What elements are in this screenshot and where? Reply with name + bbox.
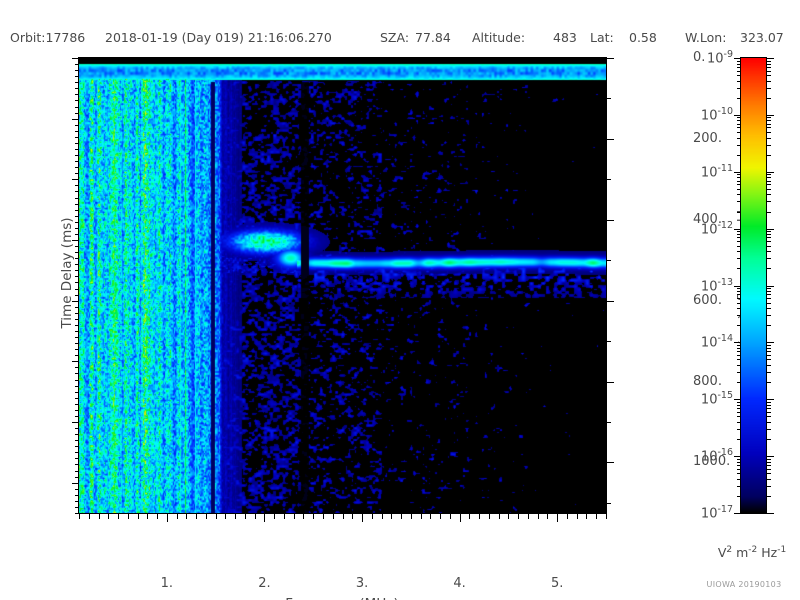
colorbar-tick-label: 10-11 bbox=[701, 163, 733, 180]
right-tick-minor bbox=[607, 179, 611, 180]
colorbar-tick-minor bbox=[767, 88, 771, 89]
x-tick-minor bbox=[421, 514, 422, 519]
x-tick-minor bbox=[196, 514, 197, 519]
header-altitude-value: 483 bbox=[553, 30, 577, 45]
right-tick-label: 0. bbox=[693, 50, 705, 65]
colorbar-tick-label: 10-15 bbox=[701, 390, 733, 407]
colorbar-tick-minor bbox=[767, 231, 771, 232]
colorbar-tick-minor bbox=[767, 439, 771, 440]
x-tick-minor bbox=[538, 514, 539, 519]
x-tick-minor bbox=[333, 514, 334, 519]
colorbar-tick-major bbox=[767, 172, 774, 173]
colorbar-tick-minor bbox=[767, 486, 771, 487]
ionogram-plot-area[interactable] bbox=[78, 57, 607, 514]
colorbar-tick-minor bbox=[767, 308, 771, 309]
x-tick-minor bbox=[294, 514, 295, 519]
colorbar-tick-minor bbox=[767, 462, 771, 463]
right-tick-major bbox=[607, 58, 614, 59]
colorbar-tick-minor bbox=[767, 473, 771, 474]
colorbar-tick-minor bbox=[767, 155, 771, 156]
x-tick-minor bbox=[274, 514, 275, 519]
colorbar-tick-minor bbox=[767, 241, 771, 242]
colorbar-tick-minor bbox=[767, 268, 771, 269]
colorbar-tick-minor bbox=[767, 64, 771, 65]
colorbar-tick-minor bbox=[767, 61, 771, 62]
x-tick-minor bbox=[138, 514, 139, 519]
colorbar-tick-minor bbox=[767, 315, 771, 316]
header-altitude-label: Altitude: bbox=[472, 30, 525, 45]
colorbar-tick-minor bbox=[767, 408, 771, 409]
colorbar-tick-minor bbox=[767, 177, 771, 178]
colorbar-tick-minor bbox=[767, 81, 771, 82]
colorbar-tick-minor bbox=[767, 348, 771, 349]
colorbar-tick-minor bbox=[767, 429, 771, 430]
y-axis-title: Time Delay (ms) bbox=[59, 217, 75, 328]
colorbar-tick-minor bbox=[767, 174, 771, 175]
header-wlon-label: W.Lon: bbox=[685, 30, 726, 45]
colorbar-tick-minor bbox=[767, 465, 771, 466]
x-tick-minor bbox=[216, 514, 217, 519]
x-tick-label: 1. bbox=[147, 576, 187, 591]
colorbar-tick-minor bbox=[767, 459, 771, 460]
right-tick-label: 200. bbox=[693, 131, 722, 146]
right-tick-major bbox=[607, 301, 614, 302]
x-tick-major bbox=[460, 514, 461, 522]
x-tick-minor bbox=[99, 514, 100, 519]
colorbar-tick-major bbox=[767, 229, 774, 230]
right-tick-major bbox=[607, 382, 614, 383]
x-tick-minor bbox=[128, 514, 129, 519]
watermark-credit: UIOWA 20190103 bbox=[707, 580, 782, 589]
x-tick-minor bbox=[206, 514, 207, 519]
colorbar-tick-label: 10-14 bbox=[701, 333, 733, 350]
x-tick-minor bbox=[303, 514, 304, 519]
colorbar-tick-major bbox=[767, 399, 774, 400]
right-tick-major bbox=[607, 139, 614, 140]
x-tick-label: 2. bbox=[244, 576, 284, 591]
x-tick-minor bbox=[606, 514, 607, 519]
x-tick-minor bbox=[235, 514, 236, 519]
figure-header: Orbit:17786 2018-01-19 (Day 019) 21:16:0… bbox=[0, 30, 800, 46]
right-tick-minor bbox=[607, 341, 611, 342]
header-orbit: Orbit:17786 bbox=[10, 30, 85, 45]
right-tick-minor bbox=[607, 503, 611, 504]
x-tick-minor bbox=[586, 514, 587, 519]
colorbar-tick-major bbox=[767, 456, 774, 457]
right-tick-minor bbox=[607, 260, 611, 261]
x-tick-minor bbox=[255, 514, 256, 519]
x-tick-major bbox=[557, 514, 558, 522]
x-tick-minor bbox=[147, 514, 148, 519]
x-tick-minor bbox=[547, 514, 548, 519]
right-tick-label: 400. bbox=[693, 212, 722, 227]
x-tick-minor bbox=[382, 514, 383, 519]
colorbar-tick-label: 10-9 bbox=[707, 49, 733, 66]
colorbar-tick-label: 10-10 bbox=[701, 106, 733, 123]
colorbar-tick-major bbox=[767, 115, 774, 116]
x-tick-minor bbox=[469, 514, 470, 519]
colorbar-tick-minor bbox=[767, 291, 771, 292]
colorbar-tick-minor bbox=[767, 412, 771, 413]
x-tick-label: 5. bbox=[537, 576, 577, 591]
colorbar-tick-minor bbox=[767, 351, 771, 352]
x-tick-minor bbox=[567, 514, 568, 519]
x-tick-minor bbox=[528, 514, 529, 519]
colorbar-tick-minor bbox=[767, 194, 771, 195]
colorbar-tick-label: 10-12 bbox=[701, 220, 733, 237]
x-tick-minor bbox=[284, 514, 285, 519]
header-sza-value: 77.84 bbox=[415, 30, 451, 45]
colorbar-tick-minor bbox=[767, 365, 771, 366]
ionogram-figure: Orbit:17786 2018-01-19 (Day 019) 21:16:0… bbox=[0, 0, 800, 600]
x-tick-minor bbox=[508, 514, 509, 519]
ionogram-heatmap[interactable] bbox=[79, 58, 606, 513]
colorbar-tick-minor bbox=[767, 117, 771, 118]
colorbar-tick-minor bbox=[767, 359, 771, 360]
colorbar-tick-minor bbox=[767, 469, 771, 470]
right-tick-label: 600. bbox=[693, 293, 722, 308]
right-tick-minor bbox=[607, 422, 611, 423]
colorbar-tick-minor bbox=[767, 75, 771, 76]
colorbar-tick-minor bbox=[767, 496, 771, 497]
colorbar-tick-minor bbox=[767, 405, 771, 406]
colorbar-tick-major bbox=[767, 286, 774, 287]
x-tick-minor bbox=[391, 514, 392, 519]
colorbar-tick-minor bbox=[767, 382, 771, 383]
colorbar-tick-minor bbox=[767, 184, 771, 185]
right-tick-major bbox=[607, 462, 614, 463]
x-tick-minor bbox=[430, 514, 431, 519]
right-tick-minor bbox=[607, 98, 611, 99]
x-tick-minor bbox=[225, 514, 226, 519]
x-tick-minor bbox=[245, 514, 246, 519]
colorbar-tick-minor bbox=[767, 372, 771, 373]
colorbar-tick-minor bbox=[767, 98, 771, 99]
x-tick-minor bbox=[343, 514, 344, 519]
x-tick-minor bbox=[372, 514, 373, 519]
colorbar-tick-minor bbox=[767, 127, 771, 128]
x-tick-minor bbox=[157, 514, 158, 519]
colorbar-tick-minor bbox=[767, 288, 771, 289]
x-tick-minor bbox=[79, 514, 80, 519]
colorbar-tick-minor bbox=[767, 479, 771, 480]
colorbar-tick-minor bbox=[767, 201, 771, 202]
colorbar-tick-minor bbox=[767, 416, 771, 417]
x-tick-minor bbox=[499, 514, 500, 519]
colorbar-tick-minor bbox=[767, 355, 771, 356]
x-tick-minor bbox=[186, 514, 187, 519]
colorbar-tick-minor bbox=[767, 212, 771, 213]
header-sza-label: SZA: bbox=[380, 30, 409, 45]
x-tick-minor bbox=[177, 514, 178, 519]
colorbar-tick-major bbox=[767, 58, 774, 59]
colorbar-tick-minor bbox=[767, 294, 771, 295]
x-tick-minor bbox=[479, 514, 480, 519]
colorbar-tick-minor bbox=[767, 402, 771, 403]
colorbar-tick-minor bbox=[767, 234, 771, 235]
colorbar-tick-minor bbox=[767, 303, 771, 304]
colorbar-tick-major bbox=[767, 342, 774, 343]
x-tick-label: 3. bbox=[342, 576, 382, 591]
colorbar-tick-minor bbox=[767, 138, 771, 139]
right-tick-label: 800. bbox=[693, 374, 722, 389]
colorbar-tick-label: 10-16 bbox=[701, 447, 733, 464]
x-tick-minor bbox=[489, 514, 490, 519]
x-tick-minor bbox=[89, 514, 90, 519]
x-tick-minor bbox=[313, 514, 314, 519]
x-tick-label: 4. bbox=[440, 576, 480, 591]
colorbar-tick-minor bbox=[767, 258, 771, 259]
x-tick-major bbox=[167, 514, 168, 522]
colorbar-tick-minor bbox=[767, 189, 771, 190]
x-tick-minor bbox=[323, 514, 324, 519]
colorbar-tick-minor bbox=[767, 67, 771, 68]
colorbar-tick-minor bbox=[767, 181, 771, 182]
colorbar-tick-minor bbox=[767, 246, 771, 247]
x-tick-minor bbox=[401, 514, 402, 519]
header-lat-value: 0.58 bbox=[629, 30, 657, 45]
colorbar-tick-major bbox=[767, 513, 774, 514]
x-tick-minor bbox=[352, 514, 353, 519]
colorbar-gradient bbox=[741, 58, 766, 513]
colorbar-tick-minor bbox=[767, 345, 771, 346]
colorbar-tick-minor bbox=[767, 251, 771, 252]
colorbar-tick-minor bbox=[767, 145, 771, 146]
colorbar-tick-minor bbox=[767, 422, 771, 423]
header-lat-label: Lat: bbox=[590, 30, 614, 45]
x-tick-minor bbox=[411, 514, 412, 519]
right-tick-label: 1000. bbox=[693, 454, 730, 469]
x-tick-minor bbox=[118, 514, 119, 519]
colorbar-tick-label: 10-13 bbox=[701, 277, 733, 294]
colorbar-tick-minor bbox=[767, 71, 771, 72]
x-tick-major bbox=[362, 514, 363, 522]
header-wlon-value: 323.07 bbox=[740, 30, 784, 45]
right-tick-major bbox=[607, 220, 614, 221]
x-tick-minor bbox=[440, 514, 441, 519]
header-timestamp: 2018-01-19 (Day 019) 21:16:06.270 bbox=[105, 30, 332, 45]
x-tick-minor bbox=[450, 514, 451, 519]
colorbar-tick-minor bbox=[767, 298, 771, 299]
colorbar-tick-minor bbox=[767, 325, 771, 326]
x-tick-minor bbox=[596, 514, 597, 519]
x-tick-minor bbox=[108, 514, 109, 519]
colorbar-tick-minor bbox=[767, 132, 771, 133]
x-tick-minor bbox=[577, 514, 578, 519]
x-tick-minor bbox=[518, 514, 519, 519]
colorbar-unit-label: V2 m-2 Hz-1 bbox=[718, 545, 786, 560]
x-axis-title: Frequency (MHz) bbox=[285, 596, 398, 600]
colorbar-tick-minor bbox=[767, 237, 771, 238]
colorbar-tick-minor bbox=[767, 120, 771, 121]
colorbar[interactable] bbox=[740, 57, 767, 514]
colorbar-tick-minor bbox=[767, 124, 771, 125]
x-tick-major bbox=[264, 514, 265, 522]
colorbar-tick-label: 10-17 bbox=[701, 504, 733, 521]
